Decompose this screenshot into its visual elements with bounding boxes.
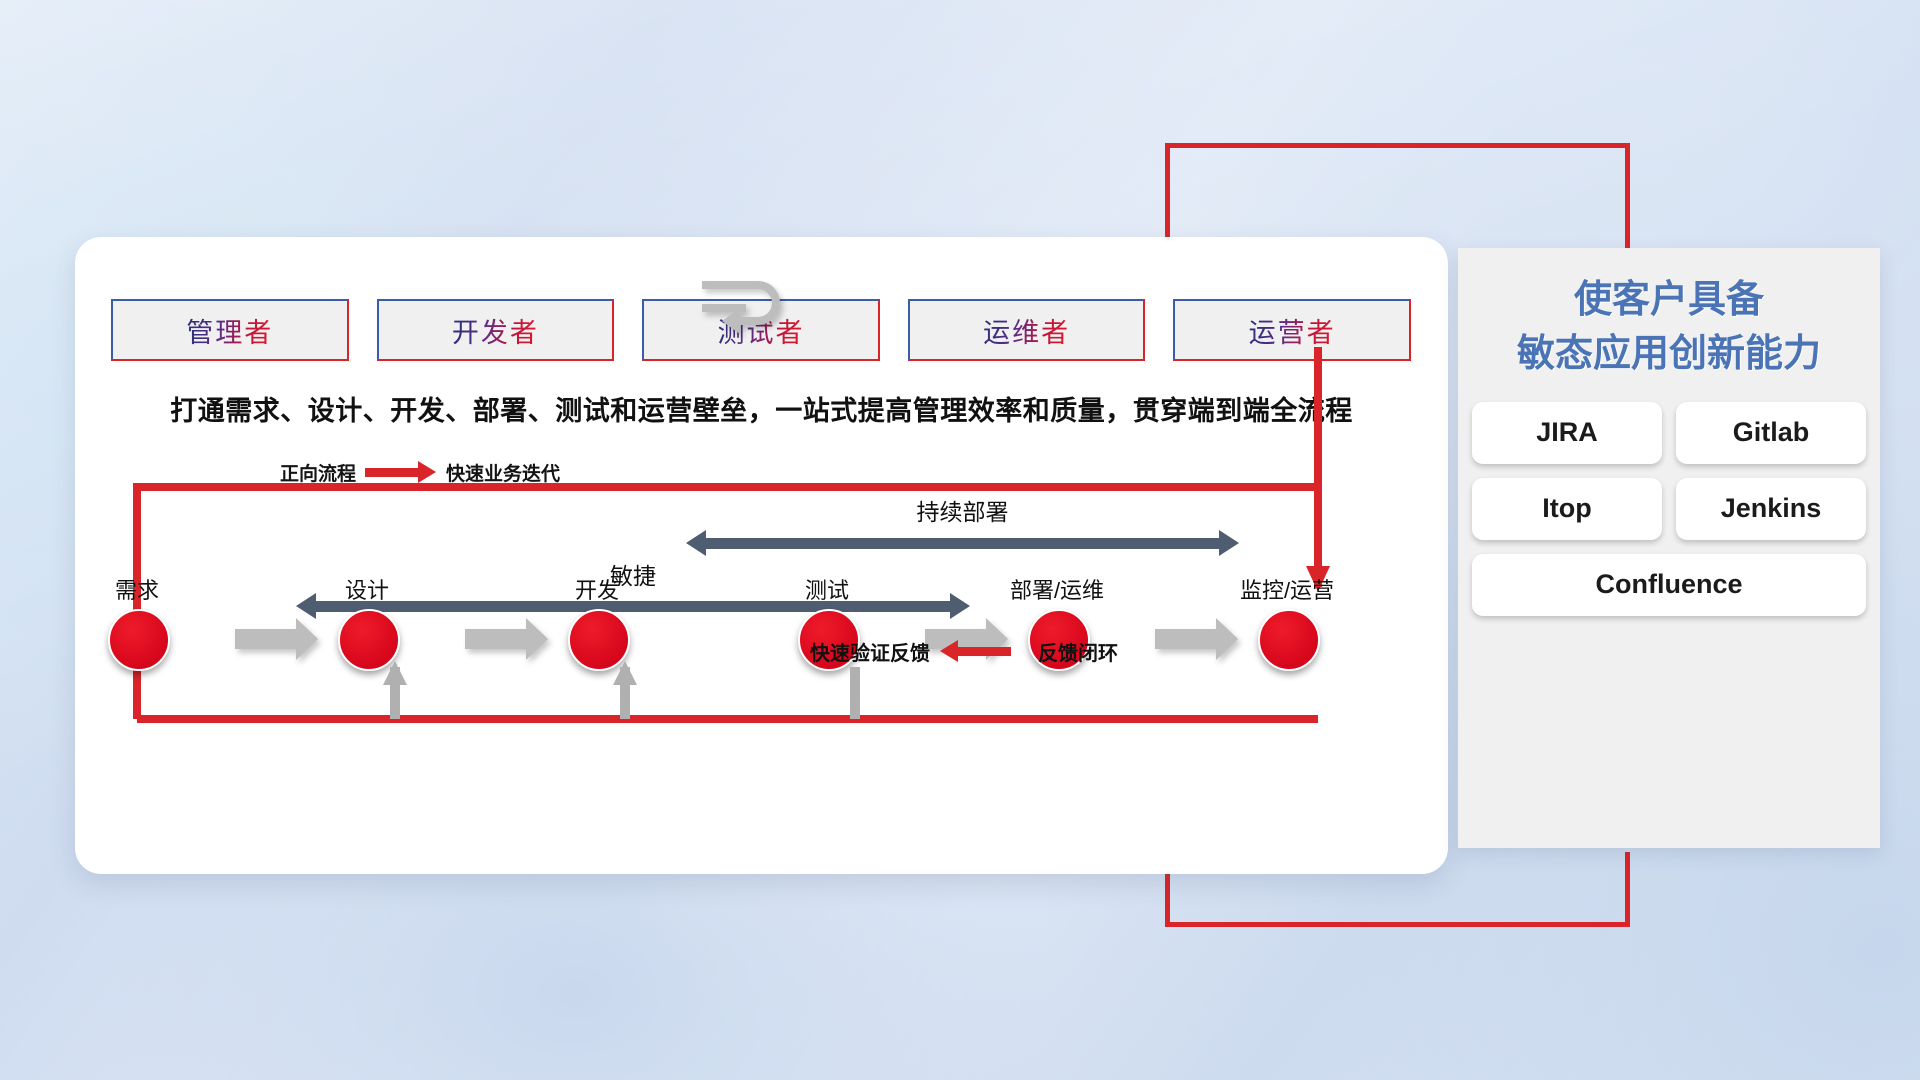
legend-feedback-left-label: 快速验证反馈 <box>810 637 930 666</box>
pipeline-stages: 需求 设计 开发 测试 部署/运维 监控/运营 <box>75 237 1448 874</box>
tool-confluence[interactable]: Confluence <box>1472 554 1866 616</box>
tool-itop[interactable]: Itop <box>1472 478 1662 540</box>
legend-feedback-loop: 快速验证反馈 反馈闭环 <box>810 637 1118 666</box>
panel-title-line-2: 敏态应用创新能力 <box>1458 328 1880 382</box>
value-proposition-panel: 使客户具备 敏态应用创新能力 JIRA Gitlab Itop Jenkins … <box>1458 248 1880 848</box>
stage-connector-stubs <box>75 237 1448 874</box>
legend-feedback-right-label: 反馈闭环 <box>1038 637 1118 666</box>
tool-list: JIRA Gitlab Itop Jenkins Confluence <box>1472 402 1866 616</box>
tool-jenkins[interactable]: Jenkins <box>1676 478 1866 540</box>
arrow-left-red-icon <box>957 647 1011 656</box>
tool-gitlab[interactable]: Gitlab <box>1676 402 1866 464</box>
devops-overview-card: 管理者 开发者 测试者 运维者 运营者 打通需求、设计、开发、部署、测试和运营壁… <box>75 237 1448 874</box>
panel-title-line-1: 使客户具备 <box>1458 274 1880 328</box>
panel-title: 使客户具备 敏态应用创新能力 <box>1458 248 1880 382</box>
tool-jira[interactable]: JIRA <box>1472 402 1662 464</box>
